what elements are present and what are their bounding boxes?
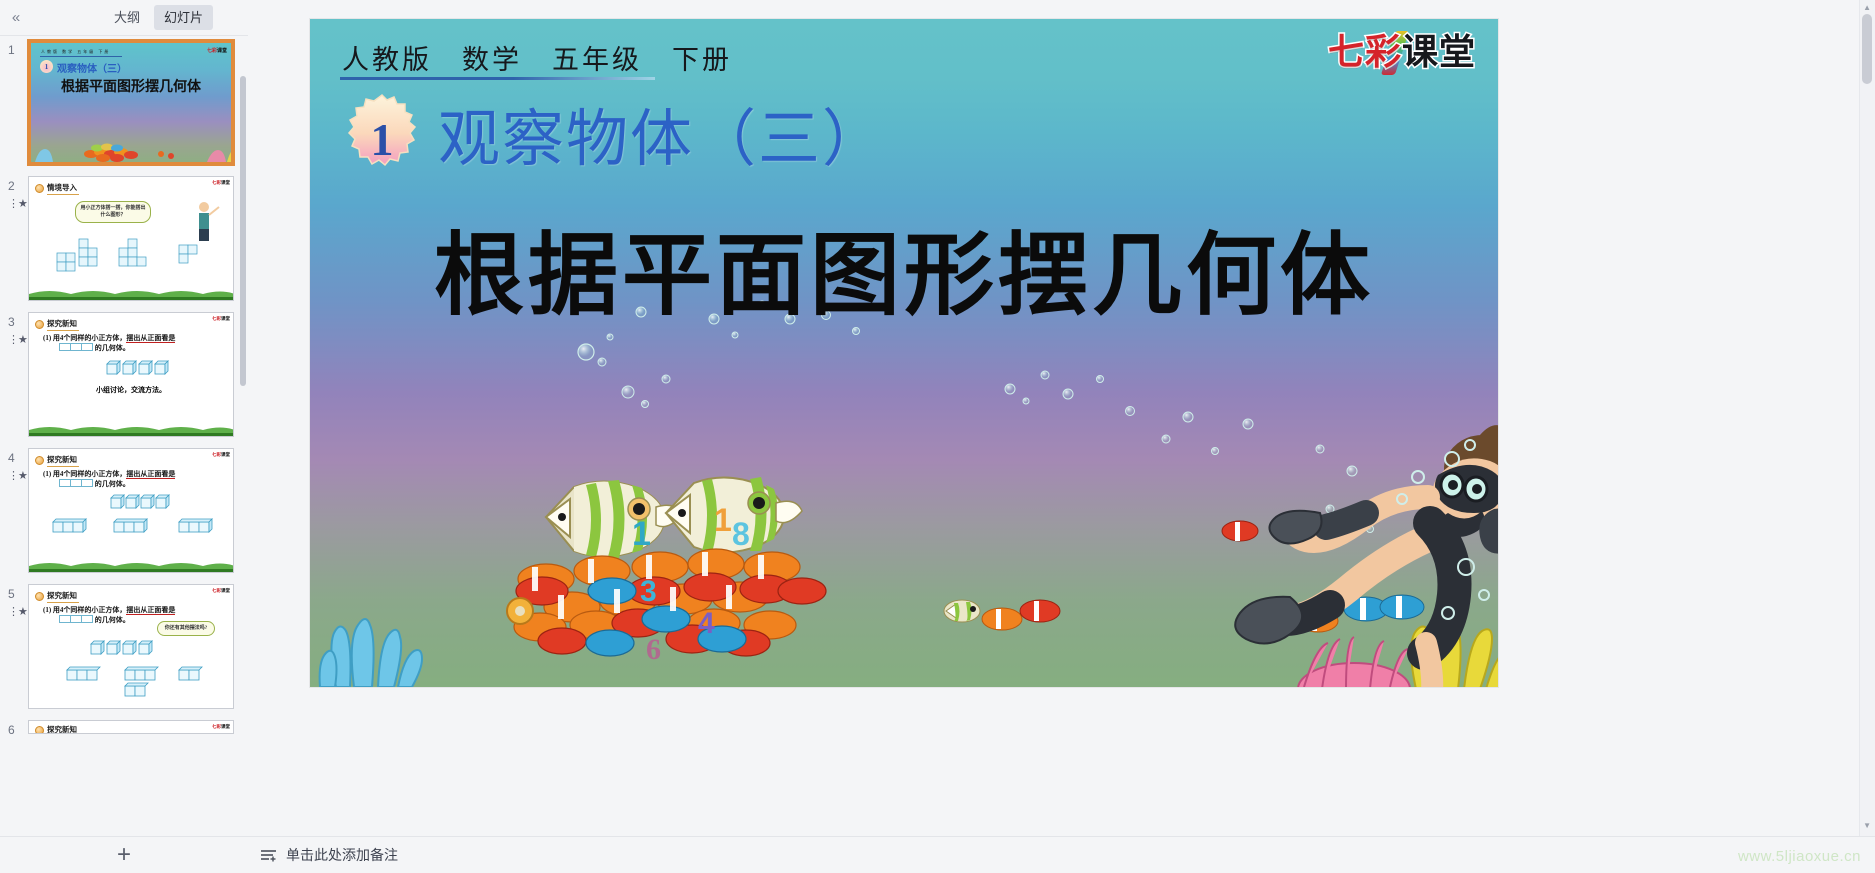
slide-main-title: 根据平面图形摆几何体 xyxy=(310,222,1498,332)
animation-star-icon[interactable]: ⋮★ xyxy=(8,335,27,346)
slide-thumbnail-item[interactable]: 5 ⋮★ 探究新知 七彩课堂 (1) 用4个同样的小正方体，摆出从正面看是 的几… xyxy=(0,584,248,709)
panel-tabs: 大纲 幻灯片 xyxy=(104,5,213,30)
slide-number: 4 xyxy=(8,452,15,464)
slide-thumbnail-list: 1 人教版 数学 五年级 下册 1 观察物体（三） 根据平面图形摆几何体 七彩课… xyxy=(0,36,248,836)
teacher-figure xyxy=(199,202,219,241)
slide-thumbnail-item[interactable]: 4 ⋮★ 探究新知 七彩课堂 (1) 用4个同样的小正方体，摆出从正面看是 的几… xyxy=(0,448,248,573)
collapse-panel-icon[interactable]: « xyxy=(2,0,30,36)
animation-star-icon[interactable]: ⋮★ xyxy=(8,199,27,210)
scroll-up-arrow-icon[interactable]: ▲ xyxy=(1863,3,1871,12)
slide-meta: 1 xyxy=(0,40,28,56)
slide-subject-title: 观察物体（三） xyxy=(438,95,886,185)
grass-decoration xyxy=(29,422,234,436)
slide-number: 5 xyxy=(8,588,15,600)
stage-scrollbar-thumb[interactable] xyxy=(1862,14,1872,84)
slide-meta: 4 ⋮★ xyxy=(0,448,28,482)
slide-thumbnail-item[interactable]: 1 人教版 数学 五年级 下册 1 观察物体（三） 根据平面图形摆几何体 七彩课… xyxy=(0,40,248,165)
section-label: 探究新知 xyxy=(47,724,79,734)
slide-thumbnail-1[interactable]: 人教版 数学 五年级 下册 1 观察物体（三） 根据平面图形摆几何体 七彩课堂 xyxy=(28,40,234,165)
brand-logo-black: 课堂 xyxy=(1402,32,1476,72)
slide-meta: 3 ⋮★ xyxy=(0,312,28,346)
notes-placeholder[interactable]: 单击此处添加备注 xyxy=(286,845,398,865)
slide-number: 2 xyxy=(8,180,15,192)
panel-scrollbar-track[interactable] xyxy=(240,76,246,832)
thumb-cubes-illustration xyxy=(29,585,234,709)
site-watermark: www.5ljiaoxue.cn xyxy=(1738,848,1861,865)
add-slide-button[interactable]: + xyxy=(117,843,131,867)
notes-icon xyxy=(260,846,278,864)
thumb-cubes-illustration xyxy=(29,177,234,301)
slide-thumbnail-4[interactable]: 探究新知 七彩课堂 (1) 用4个同样的小正方体，摆出从正面看是 的几何体。 xyxy=(28,448,234,573)
section-bullet-icon xyxy=(35,726,44,734)
add-slide-bar: + xyxy=(0,836,248,873)
slide-meta: 2 ⋮★ xyxy=(0,176,28,210)
slide-header-text: 人教版 数学 五年级 下册 xyxy=(342,38,732,77)
slide-thumbnail-2[interactable]: 情境导入 七彩课堂 用小正方体搭一搭，你能搭出什么图形？ xyxy=(28,176,234,301)
current-slide-canvas[interactable]: 1 1 8 xyxy=(310,19,1498,687)
tab-slides[interactable]: 幻灯片 xyxy=(154,5,213,30)
slide-number: 3 xyxy=(8,316,15,328)
grass-decoration xyxy=(29,558,234,572)
thumb-header-text: 人教版 数学 五年级 下册 xyxy=(41,49,110,55)
slide-meta: 6 xyxy=(0,720,28,736)
thumb-badge: 1 xyxy=(40,60,53,73)
slide-meta: 5 ⋮★ xyxy=(0,584,28,618)
animation-star-icon[interactable]: ⋮★ xyxy=(8,471,27,482)
thumb-section-header: 探究新知 xyxy=(35,724,79,734)
slide-thumbnail-item[interactable]: 2 ⋮★ 情境导入 七彩课堂 用小正方体搭一搭，你能搭出什么图形？ xyxy=(0,176,248,301)
thumb-main-title: 根据平面图形摆几何体 xyxy=(31,76,231,96)
thumb-brand-logo: 七彩课堂 xyxy=(212,724,230,730)
powerpoint-editor-window: « 大纲 幻灯片 1 人教版 数学 五年级 下册 1 观察物体（三） 根据平面图… xyxy=(0,0,1875,873)
chapter-number: 1 xyxy=(338,95,426,183)
brand-logo: 七彩课堂 xyxy=(1328,29,1476,75)
stage-scrollbar-track[interactable]: ▲ ▼ xyxy=(1859,0,1875,836)
panel-scrollbar-thumb[interactable] xyxy=(240,76,246,386)
thumb-header-rule xyxy=(40,56,122,57)
slide-thumbnail-5[interactable]: 探究新知 七彩课堂 (1) 用4个同样的小正方体，摆出从正面看是 的几何体。 你… xyxy=(28,584,234,709)
notes-bar[interactable]: 单击此处添加备注 xyxy=(248,836,1875,873)
animation-star-icon[interactable]: ⋮★ xyxy=(8,607,27,618)
thumb-subject-title: 观察物体（三） xyxy=(57,60,127,75)
panel-tabbar: « 大纲 幻灯片 xyxy=(0,0,248,36)
slide-thumbnail-item[interactable]: 3 ⋮★ 探究新知 七彩课堂 (1) 用4个同样的小正方体，摆出从正面看是 的几… xyxy=(0,312,248,437)
brand-logo-red: 七彩 xyxy=(1328,32,1402,72)
slide-thumbnail-item[interactable]: 6 探究新知 七彩课堂 xyxy=(0,720,248,736)
thumb-reef-illustration xyxy=(31,128,234,162)
slide-header-rule xyxy=(340,77,655,80)
chapter-number-badge: 1 xyxy=(338,95,426,183)
slide-thumbnail-panel[interactable]: 1 人教版 数学 五年级 下册 1 观察物体（三） 根据平面图形摆几何体 七彩课… xyxy=(0,36,248,836)
slide-thumbnail-6[interactable]: 探究新知 七彩课堂 xyxy=(28,720,234,734)
thumb-brand-logo: 七彩课堂 xyxy=(207,47,227,54)
thumb-cubes-illustration xyxy=(29,313,234,437)
slide-number: 1 xyxy=(8,44,15,56)
grass-decoration xyxy=(29,286,234,300)
thumb-cubes-illustration xyxy=(29,449,234,573)
slide-number: 6 xyxy=(8,724,15,736)
scroll-down-arrow-icon[interactable]: ▼ xyxy=(1863,821,1871,830)
slide-editor-stage[interactable]: 1 1 8 xyxy=(248,0,1875,836)
tab-outline[interactable]: 大纲 xyxy=(104,5,150,30)
slide-thumbnail-3[interactable]: 探究新知 七彩课堂 (1) 用4个同样的小正方体，摆出从正面看是 的几何体。 xyxy=(28,312,234,437)
discussion-note: 小组讨论，交流方法。 xyxy=(29,385,233,395)
